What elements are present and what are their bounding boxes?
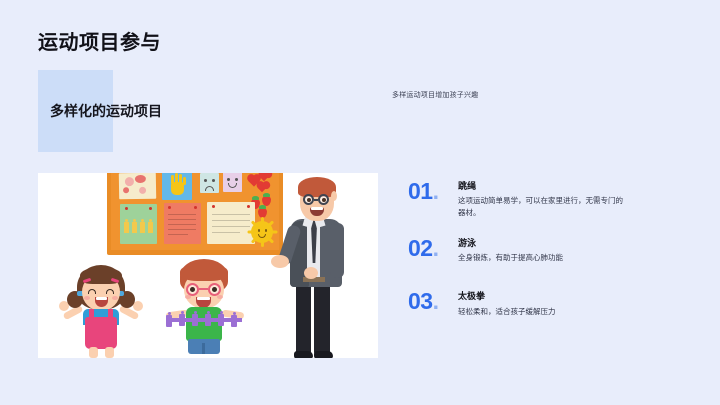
note-cream-lined-paper bbox=[207, 202, 255, 244]
list-item-number-value: 01 bbox=[408, 178, 433, 204]
list-item-description: 轻松柔和，适合孩子缓解压力 bbox=[458, 306, 630, 317]
note-handprint bbox=[162, 173, 192, 200]
paper-doll-chain bbox=[164, 313, 246, 329]
section-subheading: 多样化的运动项目 bbox=[50, 101, 162, 121]
girl-figure bbox=[63, 265, 141, 358]
teacher-figure bbox=[281, 179, 357, 358]
bulletin-board bbox=[107, 173, 283, 255]
list-item-number-value: 02 bbox=[408, 235, 433, 261]
slide-root: 运动项目参与 多样化的运动项目 多样运动项目增加孩子兴趣 bbox=[0, 0, 720, 405]
kicker-text: 多样运动项目增加孩子兴趣 bbox=[392, 90, 478, 100]
boy-figure bbox=[164, 259, 246, 358]
illustration-panel bbox=[38, 173, 378, 358]
list-item-title: 跳绳 bbox=[458, 181, 688, 192]
list-item-body: 游泳 全身锻炼，有助于提高心肺功能 bbox=[458, 237, 688, 264]
sun-drawing bbox=[249, 219, 275, 245]
illustration-scene bbox=[38, 173, 378, 358]
list-item-number-value: 03 bbox=[408, 288, 433, 314]
list-item-title: 游泳 bbox=[458, 238, 688, 249]
note-happy-face bbox=[223, 173, 242, 192]
list-item-body: 跳绳 这项运动简单易学，可以在家里进行，无需专门的器材。 bbox=[458, 180, 688, 218]
chain-person bbox=[140, 222, 145, 233]
list-item-number: 02. bbox=[408, 237, 458, 260]
list-item-number: 01. bbox=[408, 180, 458, 203]
list-item: 02. 游泳 全身锻炼，有助于提高心肺功能 bbox=[408, 237, 688, 264]
list-item-number-dot: . bbox=[433, 235, 439, 261]
chain-person bbox=[124, 222, 129, 233]
list-item-body: 太极拳 轻松柔和，适合孩子缓解压力 bbox=[458, 290, 688, 317]
heart-decoration bbox=[258, 184, 266, 192]
note-red-lined-paper bbox=[164, 203, 201, 244]
chain-person bbox=[132, 222, 137, 233]
list-item-description: 这项运动简单易学，可以在家里进行，无需专门的器材。 bbox=[458, 195, 630, 218]
list-item: 01. 跳绳 这项运动简单易学，可以在家里进行，无需专门的器材。 bbox=[408, 180, 688, 218]
list-item-description: 全身锻炼，有助于提高心肺功能 bbox=[458, 252, 630, 263]
list-item-number: 03. bbox=[408, 290, 458, 313]
page-title: 运动项目参与 bbox=[38, 26, 161, 55]
list-item-number-dot: . bbox=[433, 178, 439, 204]
bulletin-board-surface bbox=[111, 173, 279, 250]
list-item-number-dot: . bbox=[433, 288, 439, 314]
chain-person bbox=[148, 222, 153, 233]
note-flower-drawing bbox=[119, 173, 156, 199]
note-people-chain bbox=[120, 204, 157, 244]
list-item-title: 太极拳 bbox=[458, 291, 688, 302]
list-item: 03. 太极拳 轻松柔和，适合孩子缓解压力 bbox=[408, 290, 688, 317]
note-sad-face bbox=[200, 173, 219, 193]
sports-list: 01. 跳绳 这项运动简单易学，可以在家里进行，无需专门的器材。 02. 游泳 … bbox=[408, 180, 688, 317]
